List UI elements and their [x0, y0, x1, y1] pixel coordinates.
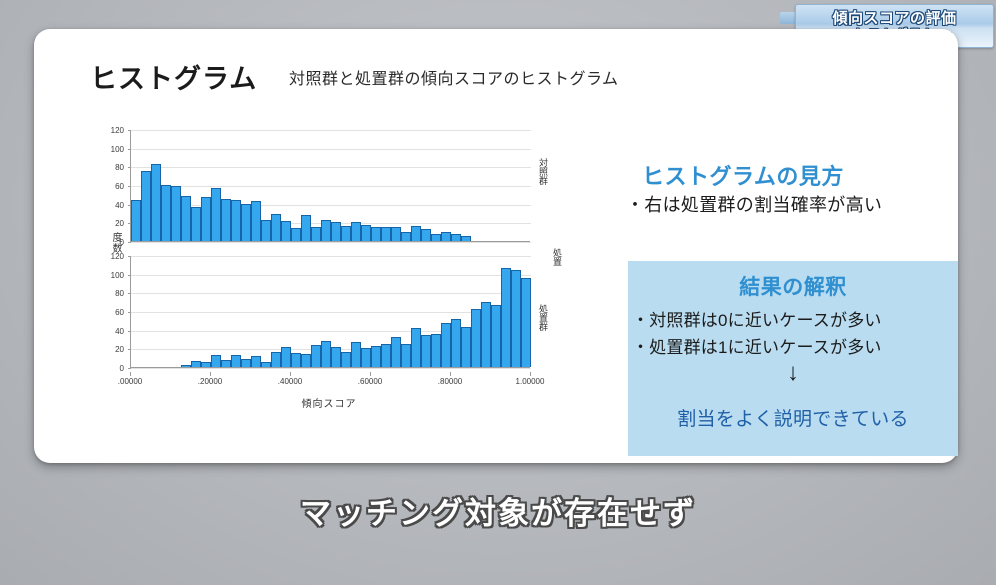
x-tick-label: .40000	[278, 377, 302, 386]
page-title: ヒストグラム	[90, 57, 257, 96]
x-tick-label: .60000	[358, 377, 382, 386]
histogram-bar	[521, 278, 531, 367]
histogram-bar	[301, 354, 311, 367]
panel-label-treated: 処置群	[538, 304, 547, 331]
y-tick-label: 40	[98, 327, 124, 336]
how-to-read-bullet: ・右は処置群の割当確率が高い	[626, 191, 976, 217]
result-bullet-1: ・対照群は0に近いケースが多い	[632, 306, 958, 331]
histogram-bar	[331, 347, 341, 367]
y-tick-mark	[128, 368, 131, 369]
x-axis-title: 傾向スコア	[74, 395, 584, 410]
histogram-chart: 度数 処置 020406080100120 対照群 02040608010012…	[74, 124, 584, 424]
histogram-bar	[451, 319, 461, 367]
slide-stage: 傾向スコアの評価 ー ヒストグラム ー ヒストグラム 対照群と処置群の傾向スコア…	[0, 0, 996, 585]
y-tick-mark	[128, 242, 131, 243]
histogram-bar	[241, 204, 251, 241]
banner-line-1: 傾向スコアの評価	[832, 11, 956, 27]
x-tick-mark	[210, 372, 211, 376]
y-tick-label: 80	[98, 163, 124, 172]
histogram-bar	[181, 196, 191, 241]
histogram-bar	[281, 347, 291, 367]
y-tick-label: 20	[98, 219, 124, 228]
grid-line	[131, 368, 531, 369]
histogram-bar	[391, 227, 401, 241]
histogram-bar	[211, 188, 221, 241]
histogram-bar	[441, 232, 451, 241]
histogram-bar	[231, 200, 241, 241]
histogram-bar	[351, 222, 361, 241]
histogram-bar	[401, 344, 411, 367]
histogram-bar	[511, 270, 521, 367]
histogram-bar	[451, 234, 461, 241]
histogram-bar	[491, 305, 501, 367]
slide-card: ヒストグラム 対照群と処置群の傾向スコアのヒストグラム 度数 処置 020406…	[34, 29, 958, 463]
histogram-bar	[281, 221, 291, 241]
histogram-bar	[401, 232, 411, 241]
subtitle-caption: マッチング対象が存在せず	[0, 488, 996, 533]
chart-panel-control: 020406080100120 対照群	[74, 130, 584, 252]
panel-label-control: 対照群	[538, 158, 547, 185]
histogram-bar	[501, 268, 511, 367]
x-tick-mark	[370, 372, 371, 376]
histogram-bar	[321, 341, 331, 367]
histogram-bar	[201, 197, 211, 241]
histogram-bar	[391, 337, 401, 367]
x-tick-mark	[130, 372, 131, 376]
histogram-bar	[441, 323, 451, 367]
down-arrow-icon: ↓	[628, 361, 958, 385]
histogram-bar	[251, 356, 261, 367]
x-tick-mark	[530, 372, 531, 376]
y-tick-label: 0	[98, 238, 124, 247]
histogram-bar	[201, 362, 211, 367]
histogram-bar	[321, 220, 331, 241]
y-tick-label: 40	[98, 201, 124, 210]
histogram-bar	[481, 302, 491, 367]
bars-treated	[131, 255, 531, 367]
histogram-bar	[291, 228, 301, 241]
x-tick-label: .00000	[118, 377, 142, 386]
histogram-bar	[361, 348, 371, 367]
histogram-bar	[141, 171, 151, 241]
histogram-bar	[411, 226, 421, 241]
y-tick-label: 100	[98, 145, 124, 154]
y-tick-label: 60	[98, 308, 124, 317]
y-tick-label: 20	[98, 345, 124, 354]
histogram-bar	[241, 359, 251, 367]
histogram-bar	[351, 342, 361, 367]
histogram-bar	[131, 200, 141, 241]
histogram-bar	[371, 346, 381, 367]
histogram-bar	[271, 214, 281, 241]
histogram-bar	[461, 236, 471, 241]
histogram-bar	[191, 207, 201, 241]
chart-panel-treated: 020406080100120 処置群	[74, 256, 584, 378]
y-tick-label: 0	[98, 364, 124, 373]
histogram-bar	[431, 334, 441, 367]
y-tick-label: 120	[98, 126, 124, 135]
histogram-bar	[301, 215, 311, 241]
histogram-bar	[381, 344, 391, 367]
histogram-bar	[191, 361, 201, 367]
histogram-bar	[471, 309, 481, 367]
result-interpretation-box: 結果の解釈 ・対照群は0に近いケースが多い ・処置群は1に近いケースが多い ↓ …	[628, 261, 958, 456]
histogram-bar	[421, 335, 431, 367]
histogram-bar	[411, 328, 421, 367]
result-title: 結果の解釈	[628, 271, 958, 301]
y-tick-label: 60	[98, 182, 124, 191]
grid-line	[131, 242, 531, 243]
x-tick-label: 1.00000	[516, 377, 545, 386]
histogram-bar	[291, 353, 301, 367]
x-tick-label: .20000	[198, 377, 222, 386]
y-tick-label: 100	[98, 271, 124, 280]
histogram-bar	[311, 345, 321, 367]
histogram-bar	[211, 355, 221, 367]
histogram-bar	[341, 352, 351, 367]
histogram-bar	[181, 365, 191, 367]
histogram-bar	[261, 362, 271, 367]
plot-area-control: 020406080100120	[130, 130, 530, 242]
page-subtitle: 対照群と処置群の傾向スコアのヒストグラム	[289, 65, 619, 89]
plot-area-treated: 020406080100120	[130, 256, 530, 368]
histogram-bar	[341, 226, 351, 241]
y-tick-label: 80	[98, 289, 124, 298]
histogram-bar	[221, 360, 231, 367]
x-axis-ticks: .00000.20000.40000.60000.800001.00000	[130, 377, 530, 389]
how-to-read-title: ヒストグラムの見方	[642, 159, 972, 191]
histogram-bar	[331, 222, 341, 241]
result-conclusion: 割当をよく説明できている	[628, 404, 958, 431]
histogram-bar	[221, 199, 231, 241]
histogram-bar	[231, 355, 241, 367]
histogram-bar	[261, 220, 271, 241]
bars-control	[131, 129, 531, 241]
histogram-bar	[151, 164, 161, 241]
histogram-bar	[421, 229, 431, 241]
histogram-bar	[361, 225, 371, 241]
histogram-bar	[271, 352, 281, 367]
histogram-bar	[371, 227, 381, 241]
x-tick-mark	[290, 372, 291, 376]
x-tick-mark	[450, 372, 451, 376]
histogram-bar	[461, 327, 471, 367]
histogram-bar	[251, 201, 261, 241]
histogram-bar	[311, 227, 321, 241]
y-tick-label: 120	[98, 252, 124, 261]
histogram-bar	[431, 234, 441, 241]
result-bullet-2: ・処置群は1に近いケースが多い	[632, 333, 958, 358]
histogram-bar	[171, 186, 181, 241]
histogram-bar	[381, 227, 391, 241]
x-tick-label: .80000	[438, 377, 462, 386]
histogram-bar	[161, 185, 171, 241]
